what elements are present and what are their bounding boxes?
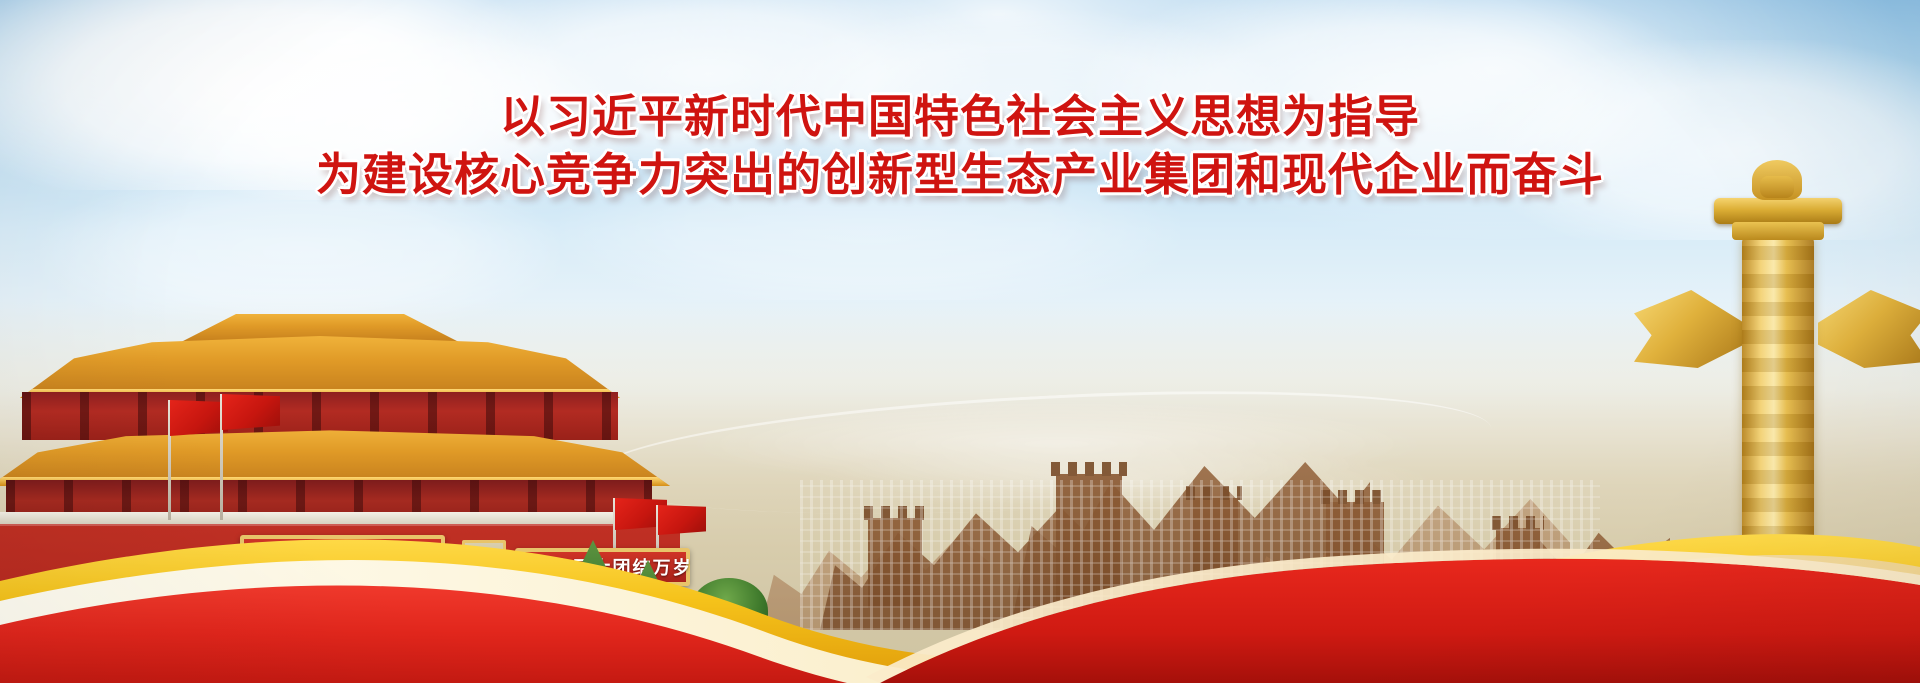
huabiao-lion-icon bbox=[1752, 160, 1802, 200]
red-flag-2 bbox=[222, 394, 280, 430]
tiananmen-upper-roof bbox=[20, 336, 620, 398]
bottom-ribbon-waves bbox=[0, 463, 1920, 683]
huabiao-plate-lower bbox=[1732, 222, 1824, 240]
party-slogan-banner: 中华人民共和国万岁 世界人民大团结万岁 以习近平新时代中国特色社会主义思想为指导… bbox=[0, 0, 1920, 683]
huabiao-plate bbox=[1714, 198, 1842, 224]
ribbon-red-wave-right bbox=[880, 559, 1920, 683]
